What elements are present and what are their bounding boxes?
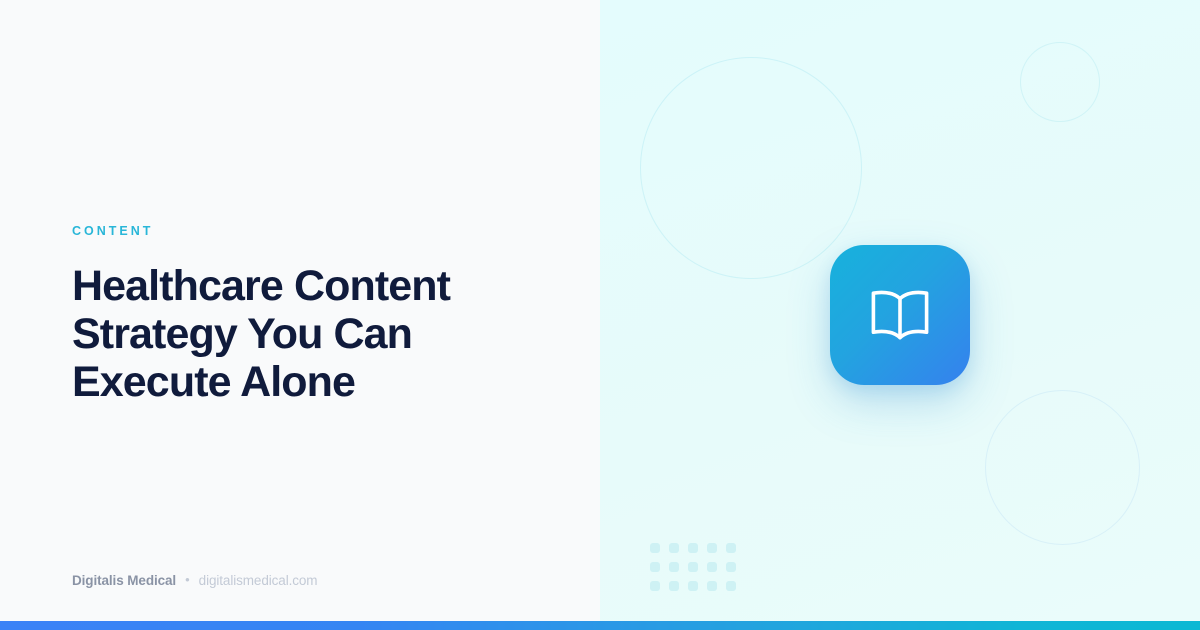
right-visual-panel — [600, 0, 1200, 630]
app-icon-tile — [830, 245, 970, 385]
page-title: Healthcare Content Strategy You Can Exec… — [72, 262, 502, 406]
bottom-accent-bar — [0, 621, 1200, 630]
social-share-card: CONTENT Healthcare Content Strategy You … — [0, 0, 1200, 630]
brand-url: digitalismedical.com — [199, 573, 318, 588]
icon-tile-container — [600, 0, 1200, 630]
brand-name: Digitalis Medical — [72, 573, 176, 588]
category-eyebrow: CONTENT — [72, 224, 528, 238]
brand-footer: Digitalis Medical • digitalismedical.com — [72, 573, 317, 588]
left-content-panel: CONTENT Healthcare Content Strategy You … — [0, 0, 600, 630]
bullet-separator-icon: • — [185, 573, 190, 586]
open-book-icon — [869, 287, 931, 343]
